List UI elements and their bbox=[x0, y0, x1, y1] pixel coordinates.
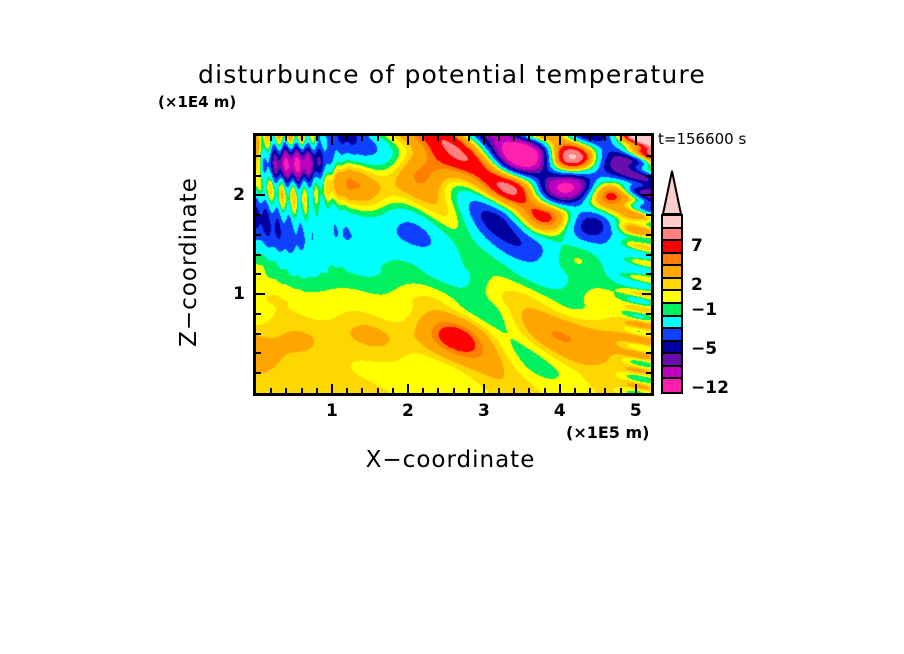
x-axis-minor-tick-top bbox=[468, 136, 470, 141]
x-axis-major-tick-top bbox=[635, 136, 637, 145]
x-axis-minor-tick bbox=[270, 388, 272, 393]
colorbar-swatch bbox=[663, 317, 681, 330]
x-axis-title: X−coordinate bbox=[253, 447, 648, 473]
x-axis-minor-tick-top bbox=[316, 136, 318, 141]
x-axis-minor-tick-top bbox=[620, 136, 622, 141]
x-axis-minor-tick bbox=[301, 388, 303, 393]
y-axis-minor-tick-right bbox=[646, 155, 651, 157]
x-axis-major-tick bbox=[483, 384, 485, 393]
page-title: disturbunce of potential temperature bbox=[0, 60, 904, 89]
x-axis-minor-tick bbox=[528, 388, 530, 393]
colorbar-swatch bbox=[663, 354, 681, 367]
colorbar-tick-label: −5 bbox=[691, 339, 717, 359]
colorbar-arrow-icon bbox=[661, 170, 683, 215]
x-axis-minor-tick bbox=[437, 388, 439, 393]
x-axis-minor-tick-top bbox=[453, 136, 455, 141]
x-axis-minor-tick bbox=[468, 388, 470, 393]
x-axis-tick-label: 2 bbox=[402, 401, 414, 421]
x-axis-minor-tick bbox=[620, 388, 622, 393]
x-axis-minor-tick bbox=[285, 388, 287, 393]
x-axis-minor-tick-top bbox=[301, 136, 303, 141]
x-axis-tick-label: 5 bbox=[630, 401, 642, 421]
x-axis-major-tick-top bbox=[559, 136, 561, 145]
y-axis-minor-tick-right bbox=[646, 254, 651, 256]
y-axis-major-tick-right bbox=[642, 293, 651, 295]
y-axis-minor-tick bbox=[256, 273, 261, 275]
y-axis-minor-tick-right bbox=[646, 372, 651, 374]
y-axis-major-tick bbox=[256, 293, 265, 295]
x-axis-minor-tick bbox=[392, 388, 394, 393]
x-axis-minor-tick-top bbox=[589, 136, 591, 141]
x-axis-major-tick-top bbox=[331, 136, 333, 145]
x-axis-minor-tick bbox=[544, 388, 546, 393]
y-axis-minor-tick-right bbox=[646, 175, 651, 177]
y-axis-minor-tick bbox=[256, 175, 261, 177]
x-axis-minor-tick-top bbox=[604, 136, 606, 141]
x-axis-minor-tick bbox=[422, 388, 424, 393]
x-axis-tick-label: 4 bbox=[554, 401, 566, 421]
x-axis-minor-tick-top bbox=[422, 136, 424, 141]
y-axis-minor-tick-right bbox=[646, 352, 651, 354]
x-axis-major-tick bbox=[331, 384, 333, 393]
x-axis-minor-tick-top bbox=[285, 136, 287, 141]
temperature-field-heatmap bbox=[256, 136, 651, 393]
x-axis-minor-tick-top bbox=[346, 136, 348, 141]
colorbar-swatch bbox=[663, 291, 681, 304]
y-axis-minor-tick bbox=[256, 214, 261, 216]
colorbar-tick-label: −12 bbox=[691, 378, 729, 398]
colorbar-swatches bbox=[661, 214, 683, 394]
colorbar-swatch bbox=[663, 266, 681, 279]
y-axis-minor-tick bbox=[256, 234, 261, 236]
y-axis-minor-tick-right bbox=[646, 273, 651, 275]
colorbar-swatch bbox=[663, 379, 681, 392]
colorbar-swatch bbox=[663, 241, 681, 254]
colorbar-swatch bbox=[663, 254, 681, 267]
x-axis-major-tick bbox=[407, 384, 409, 393]
y-axis-minor-tick bbox=[256, 313, 261, 315]
colorbar-swatch bbox=[663, 329, 681, 342]
figure-canvas: disturbunce of potential temperature (×1… bbox=[0, 0, 904, 654]
x-axis-minor-tick bbox=[604, 388, 606, 393]
y-axis-major-tick-right bbox=[642, 194, 651, 196]
colorbar-tick-label: 2 bbox=[691, 275, 703, 295]
x-axis-minor-tick bbox=[574, 388, 576, 393]
z-axis-unit-label: (×1E4 m) bbox=[158, 93, 236, 111]
y-axis-minor-tick bbox=[256, 155, 261, 157]
y-axis-tick-label: 2 bbox=[225, 185, 245, 205]
contour-plot-area bbox=[253, 133, 654, 396]
colorbar-swatch bbox=[663, 279, 681, 292]
x-axis-minor-tick-top bbox=[392, 136, 394, 141]
colorbar-swatch bbox=[663, 342, 681, 355]
x-axis-minor-tick-top bbox=[270, 136, 272, 141]
x-axis-minor-tick-top bbox=[544, 136, 546, 141]
x-axis-tick-label: 3 bbox=[478, 401, 490, 421]
x-axis-minor-tick-top bbox=[377, 136, 379, 141]
x-axis-minor-tick bbox=[346, 388, 348, 393]
y-axis-minor-tick bbox=[256, 254, 261, 256]
x-axis-major-tick bbox=[559, 384, 561, 393]
x-axis-minor-tick bbox=[589, 388, 591, 393]
colorbar-swatch bbox=[663, 216, 681, 229]
colorbar-swatch bbox=[663, 304, 681, 317]
y-axis-tick-label: 1 bbox=[225, 284, 245, 304]
y-axis-minor-tick bbox=[256, 352, 261, 354]
y-axis-minor-tick-right bbox=[646, 333, 651, 335]
x-axis-unit-label: (×1E5 m) bbox=[566, 423, 649, 442]
colorbar-tick-label: 7 bbox=[691, 236, 703, 256]
x-axis-tick-label: 1 bbox=[326, 401, 338, 421]
x-axis-minor-tick bbox=[453, 388, 455, 393]
y-axis-minor-tick-right bbox=[646, 214, 651, 216]
colorbar bbox=[661, 170, 683, 394]
y-axis-minor-tick-right bbox=[646, 234, 651, 236]
x-axis-minor-tick-top bbox=[437, 136, 439, 141]
x-axis-minor-tick bbox=[498, 388, 500, 393]
y-axis-title: Z−coordinate bbox=[176, 177, 202, 347]
x-axis-major-tick-top bbox=[407, 136, 409, 145]
x-axis-minor-tick bbox=[513, 388, 515, 393]
x-axis-minor-tick-top bbox=[361, 136, 363, 141]
x-axis-major-tick bbox=[635, 384, 637, 393]
x-axis-minor-tick-top bbox=[574, 136, 576, 141]
x-axis-major-tick-top bbox=[483, 136, 485, 145]
x-axis-minor-tick bbox=[361, 388, 363, 393]
x-axis-minor-tick-top bbox=[498, 136, 500, 141]
y-axis-major-tick bbox=[256, 194, 265, 196]
colorbar-tick-label: −1 bbox=[691, 300, 717, 320]
timestamp-label: t=156600 s bbox=[658, 130, 746, 148]
x-axis-minor-tick bbox=[316, 388, 318, 393]
colorbar-swatch bbox=[663, 367, 681, 380]
x-axis-minor-tick-top bbox=[528, 136, 530, 141]
y-axis-minor-tick bbox=[256, 333, 261, 335]
y-axis-minor-tick bbox=[256, 372, 261, 374]
colorbar-swatch bbox=[663, 229, 681, 242]
x-axis-minor-tick bbox=[377, 388, 379, 393]
x-axis-minor-tick-top bbox=[513, 136, 515, 141]
y-axis-minor-tick-right bbox=[646, 313, 651, 315]
